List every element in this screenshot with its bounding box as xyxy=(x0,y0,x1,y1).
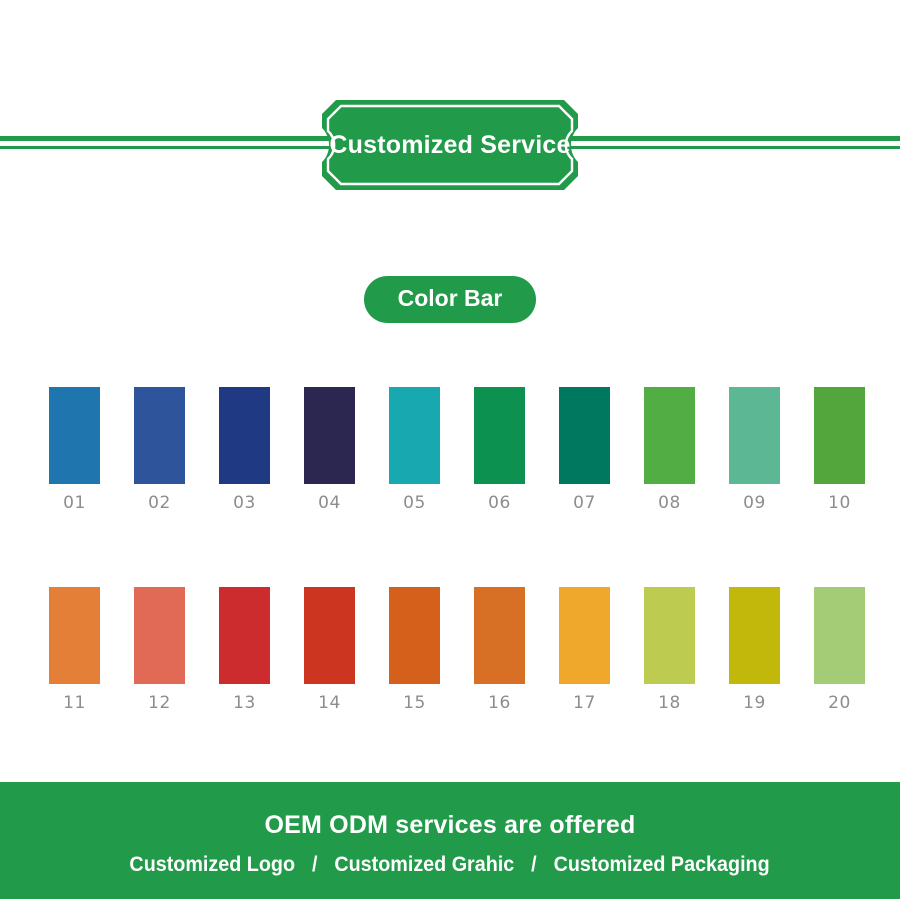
footer-service-item: Customized Logo xyxy=(128,853,297,877)
color-swatch-row-1: 01020304050607080910 xyxy=(49,387,855,513)
color-swatch-cell[interactable]: 02 xyxy=(134,387,219,513)
color-swatch-label: 08 xyxy=(644,494,695,513)
color-swatch-label: 14 xyxy=(304,694,355,713)
color-swatch-label: 15 xyxy=(389,694,440,713)
footer-service-item: Customized Packaging xyxy=(552,853,772,877)
color-swatch-label: 20 xyxy=(814,694,865,713)
color-swatch-label: 07 xyxy=(559,494,610,513)
section-pill-color-bar: Color Bar xyxy=(364,276,537,323)
rule-right-thin xyxy=(568,146,900,149)
color-swatch-chip[interactable] xyxy=(814,587,865,684)
color-swatch-label: 01 xyxy=(49,494,100,513)
footer-service-list: Customized Logo/Customized Grahic/Custom… xyxy=(128,853,772,877)
color-swatch-cell[interactable]: 20 xyxy=(814,587,899,713)
color-swatch-cell[interactable]: 04 xyxy=(304,387,389,513)
color-swatch-label: 19 xyxy=(729,694,780,713)
color-swatch-cell[interactable]: 17 xyxy=(559,587,644,713)
color-swatch-label: 16 xyxy=(474,694,525,713)
color-swatch-label: 18 xyxy=(644,694,695,713)
color-swatch-cell[interactable]: 16 xyxy=(474,587,559,713)
color-swatch-cell[interactable]: 14 xyxy=(304,587,389,713)
color-swatch-chip[interactable] xyxy=(134,587,185,684)
color-swatch-label: 02 xyxy=(134,494,185,513)
color-swatch-label: 03 xyxy=(219,494,270,513)
color-swatch-cell[interactable]: 10 xyxy=(814,387,899,513)
color-swatch-cell[interactable]: 19 xyxy=(729,587,814,713)
color-swatch-chip[interactable] xyxy=(474,387,525,484)
color-swatch-chip[interactable] xyxy=(304,387,355,484)
footer-headline: OEM ODM services are offered xyxy=(264,811,635,840)
color-swatch-cell[interactable]: 11 xyxy=(49,587,134,713)
footer-banner: OEM ODM services are offered Customized … xyxy=(0,782,900,899)
color-swatch-cell[interactable]: 15 xyxy=(389,587,474,713)
color-swatch-cell[interactable]: 12 xyxy=(134,587,219,713)
color-swatch-label: 12 xyxy=(134,694,185,713)
color-swatch-row-2: 11121314151617181920 xyxy=(49,587,855,713)
color-swatch-chip[interactable] xyxy=(559,387,610,484)
color-swatch-label: 17 xyxy=(559,694,610,713)
color-swatch-chip[interactable] xyxy=(134,387,185,484)
color-swatch-cell[interactable]: 08 xyxy=(644,387,729,513)
color-swatch-cell[interactable]: 05 xyxy=(389,387,474,513)
color-swatch-cell[interactable]: 03 xyxy=(219,387,304,513)
color-swatch-chip[interactable] xyxy=(644,587,695,684)
footer-service-item: Customized Grahic xyxy=(333,853,517,877)
color-swatch-cell[interactable]: 18 xyxy=(644,587,729,713)
color-swatch-cell[interactable]: 01 xyxy=(49,387,134,513)
color-swatch-label: 09 xyxy=(729,494,780,513)
color-swatch-chip[interactable] xyxy=(49,587,100,684)
color-swatch-chip[interactable] xyxy=(389,587,440,684)
color-swatch-label: 10 xyxy=(814,494,865,513)
color-swatch-label: 06 xyxy=(474,494,525,513)
color-swatch-chip[interactable] xyxy=(644,387,695,484)
color-swatch-chip[interactable] xyxy=(304,587,355,684)
color-swatch-chip[interactable] xyxy=(49,387,100,484)
color-swatch-chip[interactable] xyxy=(219,387,270,484)
color-swatch-label: 11 xyxy=(49,694,100,713)
footer-separator: / xyxy=(517,853,553,877)
color-swatch-label: 05 xyxy=(389,494,440,513)
footer-separator: / xyxy=(297,853,333,877)
color-swatch-cell[interactable]: 09 xyxy=(729,387,814,513)
color-swatch-chip[interactable] xyxy=(474,587,525,684)
color-swatch-cell[interactable]: 06 xyxy=(474,387,559,513)
rule-right-thick xyxy=(568,136,900,141)
color-swatch-chip[interactable] xyxy=(219,587,270,684)
color-swatch-chip[interactable] xyxy=(389,387,440,484)
color-swatch-label: 04 xyxy=(304,494,355,513)
color-swatch-chip[interactable] xyxy=(559,587,610,684)
section-pill-row: Color Bar xyxy=(0,276,900,323)
rule-left-thin xyxy=(0,146,332,149)
header-banner: Customized Service xyxy=(0,90,900,200)
color-swatch-label: 13 xyxy=(219,694,270,713)
color-swatch-chip[interactable] xyxy=(814,387,865,484)
color-swatch-chip[interactable] xyxy=(729,387,780,484)
color-swatch-cell[interactable]: 07 xyxy=(559,387,644,513)
color-swatch-cell[interactable]: 13 xyxy=(219,587,304,713)
rule-left-thick xyxy=(0,136,332,141)
page-title: Customized Service xyxy=(320,90,580,200)
color-swatch-chip[interactable] xyxy=(729,587,780,684)
